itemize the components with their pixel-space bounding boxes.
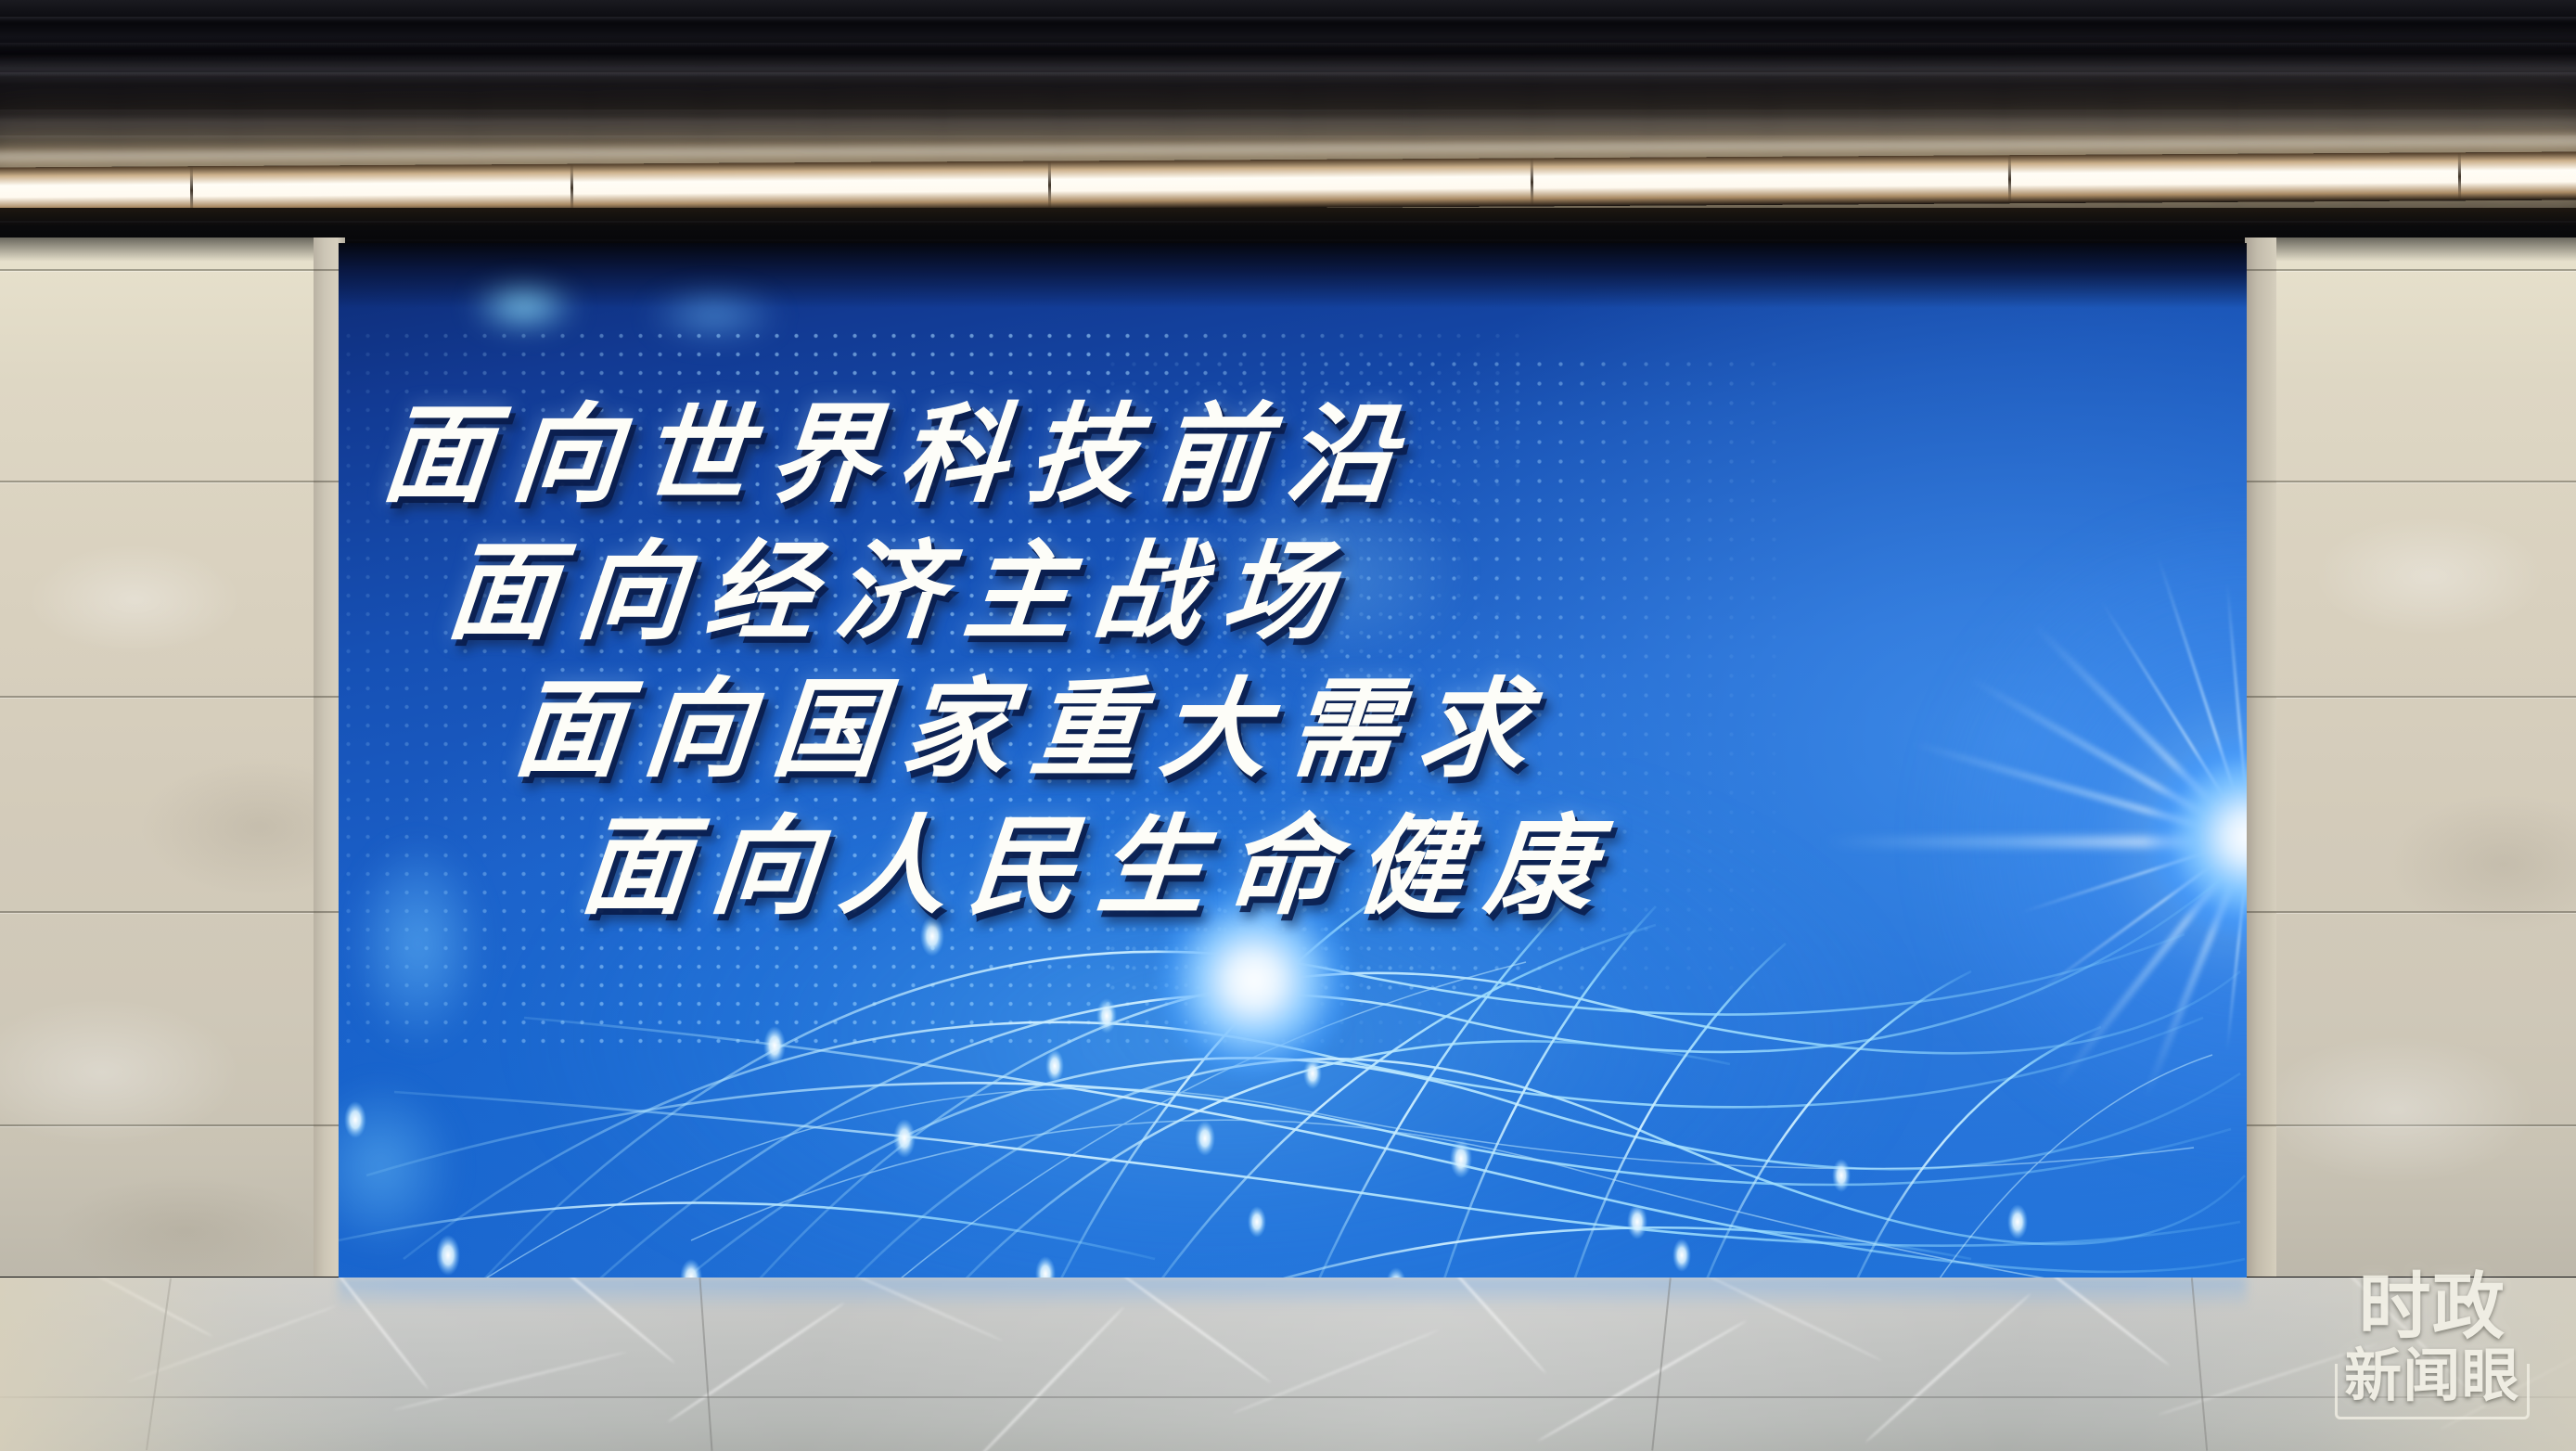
screen-top-vignette: [339, 243, 2247, 308]
screen-floor-reflection: [339, 1278, 2247, 1309]
right-wall-panels: [2276, 238, 2576, 1277]
right-wall-reveal: [2245, 238, 2276, 1277]
marble-floor: [0, 1278, 2576, 1451]
scene-root: 面向世界科技前沿 面向经济主战场 面向国家重大需求 面向人民生命健康: [0, 0, 2576, 1451]
left-wall-panels: [0, 238, 345, 1277]
led-video-wall[interactable]: 面向世界科技前沿 面向经济主战场 面向国家重大需求 面向人民生命健康: [339, 243, 2247, 1278]
ceiling: [0, 0, 2576, 243]
globe-center-glow: [1157, 883, 1352, 1078]
globe-network-graphic: [339, 758, 2247, 1278]
ceiling-soffit: [0, 208, 2576, 243]
